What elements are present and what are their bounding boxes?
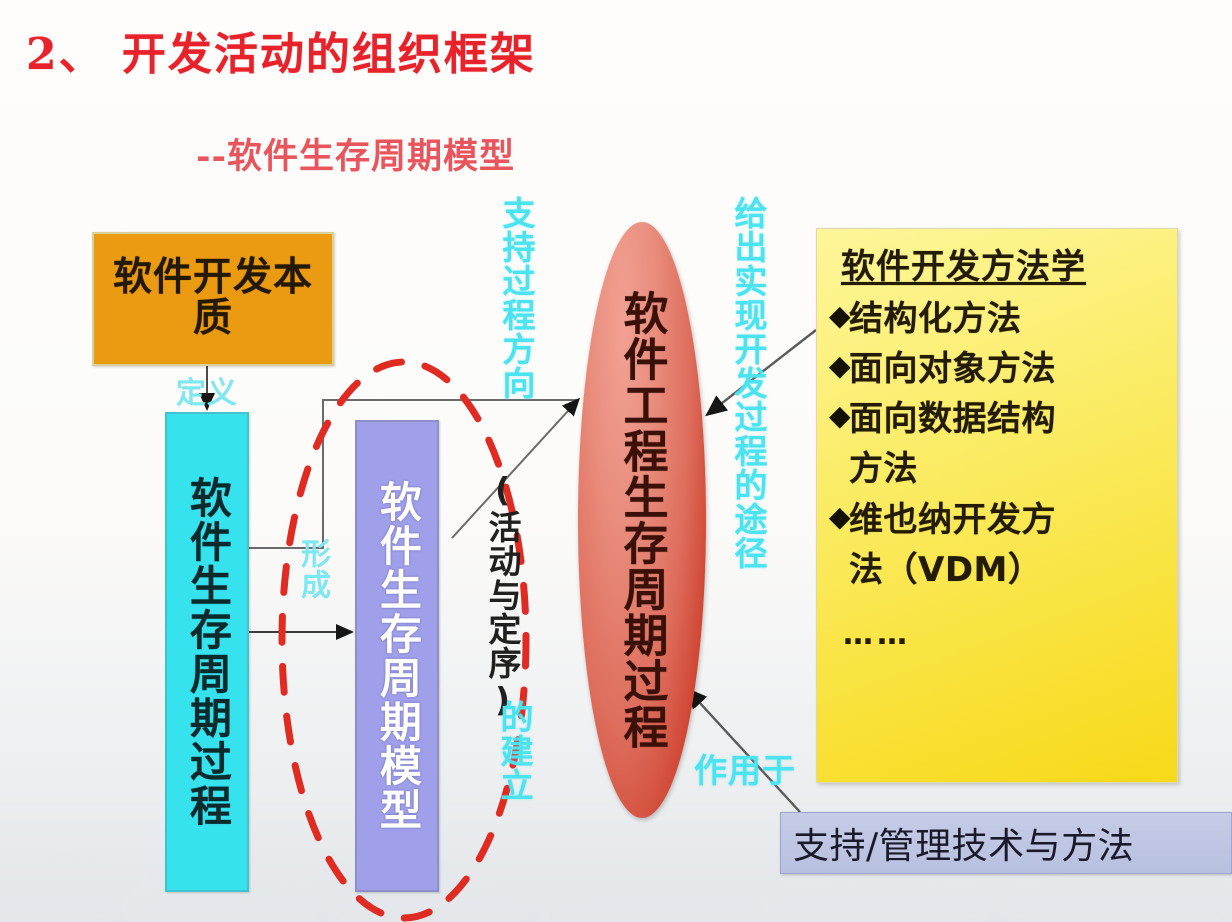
- list-item-label-cont: 方法: [849, 448, 918, 490]
- node-lifecycle-model-label: 软件生存周期模型: [376, 480, 419, 832]
- diamond-bullet-icon: ◆: [829, 348, 849, 384]
- annotation-give-path: 给出实现开发过程的途径: [732, 196, 765, 570]
- node-software-development-essence[interactable]: 软件开发本质: [92, 232, 334, 366]
- slide-title: 2、 开发活动的组织框架: [26, 18, 536, 82]
- list-item-label: 维也纳开发方: [849, 499, 1056, 541]
- node-essence-label: 软件开发本质: [94, 258, 332, 340]
- annotation-formation: 形成: [290, 538, 334, 600]
- panel-support-management-techniques[interactable]: 支持/管理技术与方法: [780, 812, 1232, 874]
- list-item[interactable]: ◆ 结构化方法: [829, 298, 1167, 340]
- annotation-support-process-a: 支持过程方向: [500, 196, 533, 400]
- methodology-title: 软件开发方法学: [841, 239, 1167, 288]
- list-item-label: 面向数据结构: [849, 398, 1056, 440]
- annotation-support-process-b: (活动与定序): [486, 470, 519, 720]
- list-item-continuation: 方法: [829, 448, 1167, 490]
- list-item-continuation: 法（VDM）: [829, 549, 1167, 591]
- list-item-label-cont: 法（VDM）: [849, 549, 1042, 591]
- methodology-ellipsis: ……: [843, 617, 1167, 652]
- node-software-lifecycle-model[interactable]: 软件生存周期模型: [355, 420, 439, 892]
- diamond-bullet-icon: ◆: [829, 499, 849, 535]
- methodology-list: ◆ 结构化方法 ◆ 面向对象方法 ◆ 面向数据结构 方法 ◆ 维也纳开发方 法（: [829, 298, 1167, 591]
- list-item[interactable]: ◆ 维也纳开发方: [829, 499, 1167, 541]
- annotation-definition: 定义: [176, 368, 238, 412]
- background-watermark-shape: [540, 886, 770, 922]
- diamond-bullet-icon: ◆: [829, 298, 849, 334]
- node-engineering-ellipse-label: 软件工程生存周期过程: [620, 290, 665, 750]
- background-watermark-shape: [760, 874, 1000, 922]
- node-lifecycle-process-label: 软件生存周期过程: [186, 476, 229, 828]
- node-software-lifecycle-process[interactable]: 软件生存周期过程: [165, 412, 249, 892]
- node-software-engineering-lifecycle-process[interactable]: 软件工程生存周期过程: [578, 222, 706, 818]
- list-item-label: 面向对象方法: [849, 348, 1056, 390]
- diamond-bullet-icon: ◆: [829, 398, 849, 434]
- list-item[interactable]: ◆ 面向数据结构: [829, 398, 1167, 440]
- list-item[interactable]: ◆ 面向对象方法: [829, 348, 1167, 390]
- annotation-acts-on: 作用于: [694, 744, 796, 792]
- panel-development-methodology[interactable]: 软件开发方法学 ◆ 结构化方法 ◆ 面向对象方法 ◆ 面向数据结构 方法 ◆ 维…: [816, 228, 1178, 783]
- slide-canvas: 2、 开发活动的组织框架 --软件生存周期模型 软件开发本质 软件生存周期过程: [0, 0, 1232, 922]
- background-watermark-shape: [1000, 866, 1232, 922]
- slide-subtitle: --软件生存周期模型: [196, 128, 515, 179]
- annotation-support-process-c: 的建立: [498, 700, 531, 802]
- support-box-label: 支持/管理技术与方法: [781, 817, 1134, 869]
- list-item-label: 结构化方法: [849, 298, 1022, 340]
